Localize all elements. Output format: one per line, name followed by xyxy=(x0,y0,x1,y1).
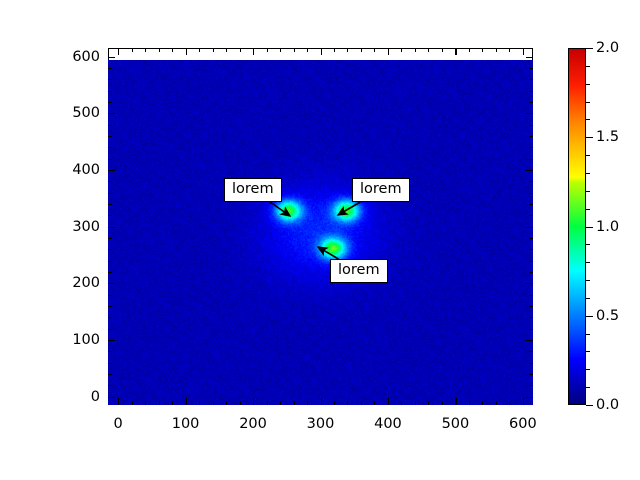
colorbar-gradient xyxy=(569,49,585,404)
y-minor-tick xyxy=(108,261,112,262)
colorbar-tick-label: 0.0 xyxy=(596,397,619,413)
x-major-tick xyxy=(455,398,456,405)
x-minor-tick-top xyxy=(145,48,146,52)
x-minor-tick xyxy=(240,401,241,405)
colorbar-minor-tick xyxy=(586,369,590,370)
x-minor-tick xyxy=(401,401,402,405)
colorbar-minor-tick xyxy=(586,280,590,281)
y-minor-tick-right xyxy=(529,385,533,386)
colorbar-minor-tick xyxy=(586,262,590,263)
y-tick-label: 400 xyxy=(62,162,100,178)
y-minor-tick-right xyxy=(529,249,533,250)
x-minor-tick xyxy=(213,401,214,405)
x-minor-tick-top xyxy=(213,48,214,52)
x-minor-tick-top xyxy=(172,48,173,52)
y-minor-tick-right xyxy=(529,272,533,273)
x-minor-tick-top xyxy=(374,48,375,52)
heatmap-image xyxy=(108,60,533,405)
x-minor-tick xyxy=(361,401,362,405)
y-major-tick-right xyxy=(526,170,533,171)
y-minor-tick-right xyxy=(529,261,533,262)
y-minor-tick xyxy=(108,193,112,194)
y-tick-label: 500 xyxy=(62,105,100,121)
colorbar-minor-tick xyxy=(586,119,590,120)
x-minor-tick xyxy=(132,401,133,405)
y-minor-tick-right xyxy=(529,238,533,239)
y-tick-label: 600 xyxy=(62,49,100,65)
x-major-tick-top xyxy=(253,48,254,55)
y-minor-tick-right xyxy=(529,306,533,307)
x-minor-tick-top xyxy=(442,48,443,52)
x-tick-label: 500 xyxy=(442,416,470,432)
x-minor-tick xyxy=(267,401,268,405)
x-major-tick-top xyxy=(321,48,322,55)
x-minor-tick-top xyxy=(307,48,308,52)
y-minor-tick xyxy=(108,79,112,80)
x-major-tick-top xyxy=(118,48,119,55)
y-minor-tick xyxy=(108,295,112,296)
annotation-label-2: lorem xyxy=(352,178,410,202)
colorbar-minor-tick xyxy=(586,387,590,388)
annotation-label-3: lorem xyxy=(330,259,388,283)
x-major-tick xyxy=(321,398,322,405)
x-minor-tick-top xyxy=(280,48,281,52)
y-minor-tick xyxy=(108,249,112,250)
y-minor-tick xyxy=(108,102,112,103)
x-tick-label: 600 xyxy=(509,416,537,432)
y-major-tick-right xyxy=(526,57,533,58)
y-minor-tick-right xyxy=(529,125,533,126)
y-minor-tick xyxy=(108,68,112,69)
x-tick-label: 400 xyxy=(374,416,402,432)
x-minor-tick-top xyxy=(199,48,200,52)
x-minor-tick xyxy=(307,401,308,405)
y-minor-tick-right xyxy=(529,147,533,148)
annotation-label-1: lorem xyxy=(224,178,282,202)
x-tick-label: 100 xyxy=(172,416,200,432)
colorbar-major-tick xyxy=(586,137,593,138)
colorbar-minor-tick xyxy=(586,191,590,192)
y-minor-tick-right xyxy=(529,102,533,103)
x-major-tick-top xyxy=(523,48,524,55)
x-minor-tick-top xyxy=(469,48,470,52)
y-minor-tick-right xyxy=(529,181,533,182)
colorbar-tick-label: 1.5 xyxy=(596,129,619,145)
y-minor-tick-right xyxy=(529,363,533,364)
y-minor-tick-right xyxy=(529,351,533,352)
x-minor-tick xyxy=(496,401,497,405)
x-minor-tick xyxy=(482,401,483,405)
x-minor-tick xyxy=(159,401,160,405)
x-minor-tick xyxy=(469,401,470,405)
colorbar-minor-tick xyxy=(586,209,590,210)
y-minor-tick xyxy=(108,238,112,239)
y-minor-tick-right xyxy=(529,215,533,216)
y-minor-tick-right xyxy=(529,295,533,296)
y-major-tick xyxy=(108,170,115,171)
y-minor-tick xyxy=(108,215,112,216)
y-major-tick xyxy=(108,340,115,341)
y-minor-tick-right xyxy=(529,136,533,137)
x-minor-tick xyxy=(509,401,510,405)
x-minor-tick-top xyxy=(159,48,160,52)
colorbar-minor-tick xyxy=(586,102,590,103)
y-tick-label: 0 xyxy=(62,389,100,405)
x-minor-tick xyxy=(442,401,443,405)
x-major-tick-top xyxy=(455,48,456,55)
y-minor-tick xyxy=(108,329,112,330)
y-tick-label: 100 xyxy=(62,332,100,348)
y-major-tick xyxy=(108,113,115,114)
y-minor-tick-right xyxy=(529,204,533,205)
y-minor-tick xyxy=(108,136,112,137)
x-minor-tick xyxy=(415,401,416,405)
x-minor-tick-top xyxy=(240,48,241,52)
y-minor-tick-right xyxy=(529,68,533,69)
colorbar-minor-tick xyxy=(586,155,590,156)
y-minor-tick-right xyxy=(529,329,533,330)
colorbar-frame xyxy=(568,48,586,405)
y-major-tick-right xyxy=(526,227,533,228)
x-minor-tick xyxy=(428,401,429,405)
x-major-tick xyxy=(186,398,187,405)
y-minor-tick xyxy=(108,306,112,307)
colorbar-minor-tick xyxy=(586,84,590,85)
y-minor-tick xyxy=(108,317,112,318)
x-minor-tick-top xyxy=(347,48,348,52)
y-major-tick-right xyxy=(526,340,533,341)
colorbar-minor-tick xyxy=(586,173,590,174)
x-minor-tick-top xyxy=(415,48,416,52)
colorbar-minor-tick xyxy=(586,334,590,335)
x-minor-tick xyxy=(145,401,146,405)
x-major-tick xyxy=(118,398,119,405)
colorbar-major-tick xyxy=(586,316,593,317)
y-minor-tick xyxy=(108,147,112,148)
y-minor-tick xyxy=(108,181,112,182)
figure-canvas: 01002003004005006000100200300400500600 0… xyxy=(0,0,640,480)
y-tick-label: 200 xyxy=(62,275,100,291)
x-minor-tick-top xyxy=(226,48,227,52)
x-minor-tick-top xyxy=(401,48,402,52)
x-major-tick xyxy=(523,398,524,405)
x-major-tick-top xyxy=(186,48,187,55)
colorbar-major-tick xyxy=(586,405,593,406)
y-major-tick-right xyxy=(526,113,533,114)
x-minor-tick-top xyxy=(509,48,510,52)
x-minor-tick-top xyxy=(482,48,483,52)
y-minor-tick xyxy=(108,363,112,364)
y-minor-tick-right xyxy=(529,374,533,375)
y-minor-tick xyxy=(108,125,112,126)
x-minor-tick-top xyxy=(267,48,268,52)
colorbar-minor-tick xyxy=(586,66,590,67)
y-tick-label: 300 xyxy=(62,219,100,235)
y-major-tick xyxy=(108,397,115,398)
colorbar-minor-tick xyxy=(586,351,590,352)
x-minor-tick-top xyxy=(334,48,335,52)
colorbar-major-tick xyxy=(586,227,593,228)
x-minor-tick xyxy=(294,401,295,405)
y-major-tick xyxy=(108,227,115,228)
x-minor-tick-top xyxy=(361,48,362,52)
x-minor-tick xyxy=(172,401,173,405)
x-tick-label: 200 xyxy=(239,416,267,432)
x-minor-tick-top xyxy=(496,48,497,52)
x-minor-tick xyxy=(374,401,375,405)
colorbar-minor-tick xyxy=(586,244,590,245)
x-major-tick-top xyxy=(388,48,389,55)
y-minor-tick-right xyxy=(529,317,533,318)
colorbar-tick-label: 2.0 xyxy=(596,40,619,56)
x-minor-tick xyxy=(280,401,281,405)
x-minor-tick xyxy=(347,401,348,405)
y-major-tick xyxy=(108,283,115,284)
y-minor-tick xyxy=(108,272,112,273)
x-tick-label: 300 xyxy=(307,416,335,432)
y-minor-tick-right xyxy=(529,159,533,160)
y-minor-tick-right xyxy=(529,193,533,194)
y-minor-tick xyxy=(108,159,112,160)
y-major-tick-right xyxy=(526,397,533,398)
x-major-tick xyxy=(253,398,254,405)
y-major-tick-right xyxy=(526,283,533,284)
y-minor-tick-right xyxy=(529,79,533,80)
y-minor-tick xyxy=(108,374,112,375)
x-major-tick xyxy=(388,398,389,405)
x-minor-tick xyxy=(199,401,200,405)
x-tick-label: 0 xyxy=(113,416,122,432)
colorbar-major-tick xyxy=(586,48,593,49)
y-minor-tick xyxy=(108,385,112,386)
x-minor-tick-top xyxy=(294,48,295,52)
y-minor-tick xyxy=(108,204,112,205)
x-minor-tick-top xyxy=(428,48,429,52)
x-minor-tick xyxy=(226,401,227,405)
colorbar-tick-label: 1.0 xyxy=(596,219,619,235)
colorbar-minor-tick xyxy=(586,298,590,299)
y-minor-tick xyxy=(108,351,112,352)
colorbar-tick-label: 0.5 xyxy=(596,308,619,324)
y-minor-tick xyxy=(108,91,112,92)
x-minor-tick-top xyxy=(132,48,133,52)
y-minor-tick-right xyxy=(529,91,533,92)
x-minor-tick xyxy=(334,401,335,405)
y-major-tick xyxy=(108,57,115,58)
